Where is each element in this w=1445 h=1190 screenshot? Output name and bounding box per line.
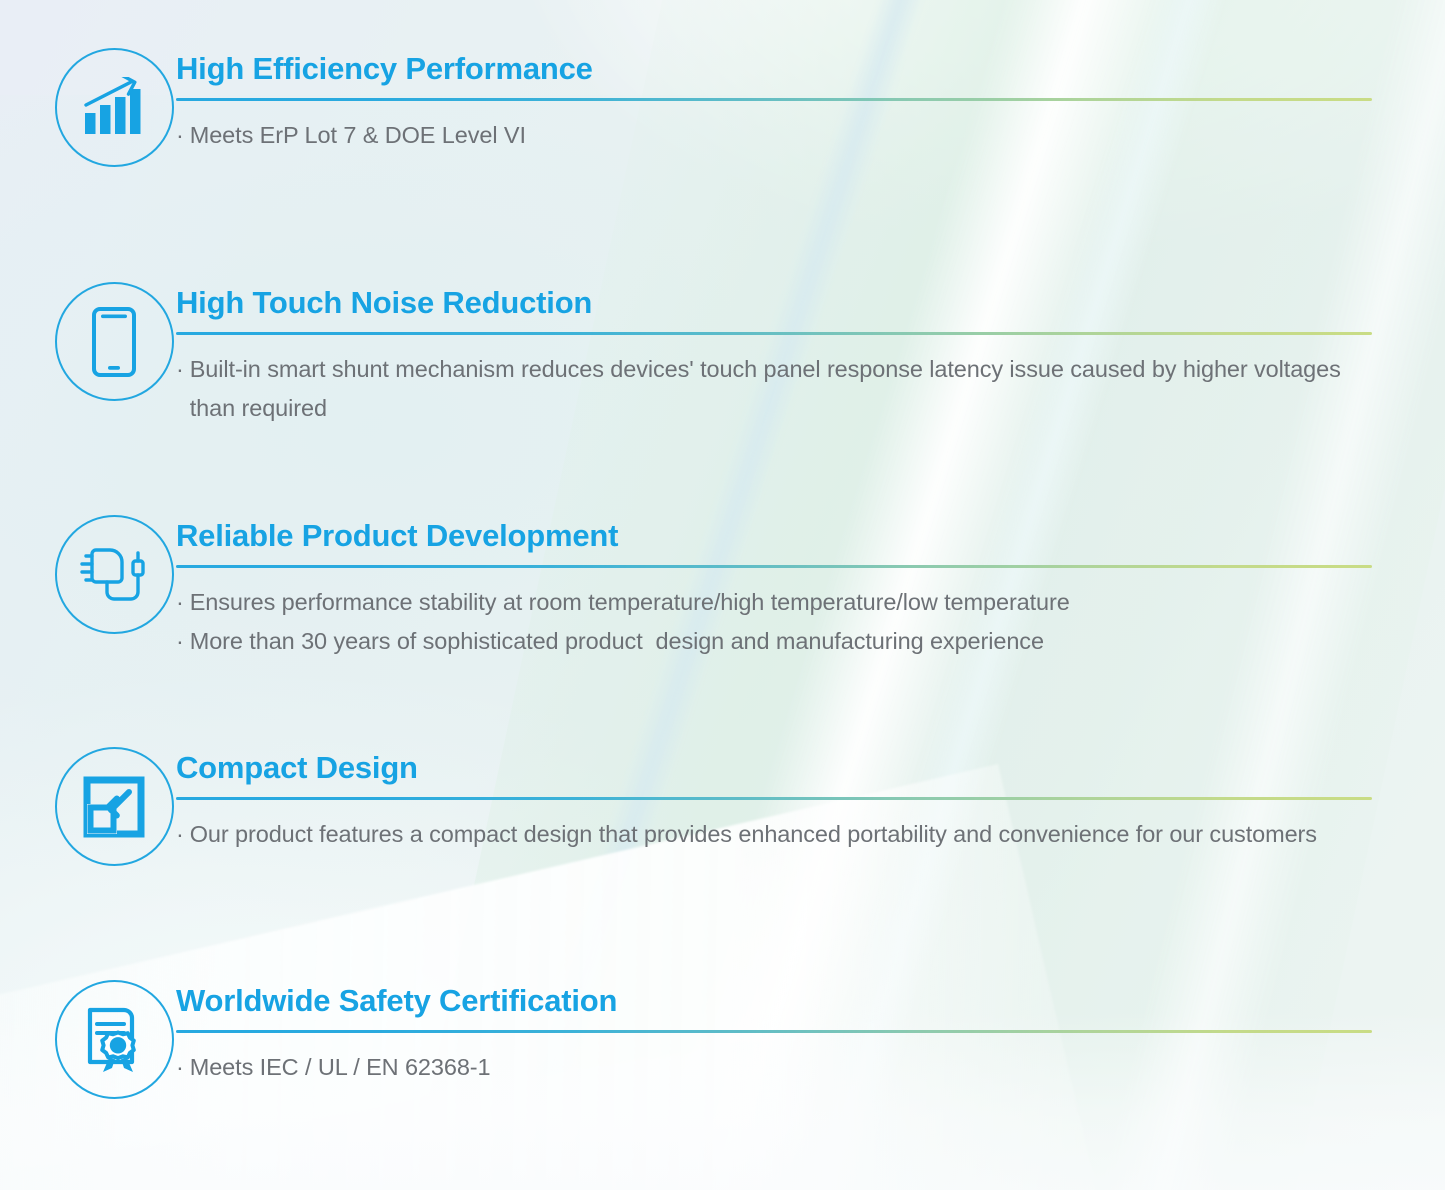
feature-icon-container [52, 978, 176, 1099]
feature-bullets: · Meets ErP Lot 7 & DOE Level VI [176, 116, 1372, 154]
bullet-item: · Ensures performance stability at room … [176, 583, 1372, 621]
compact-resize-icon [83, 776, 145, 838]
feature-item-high-touch-noise-reduction: High Touch Noise Reduction · Built-in sm… [52, 280, 1372, 427]
feature-icon-container [52, 46, 176, 167]
power-adapter-icon [76, 542, 152, 608]
smartphone-icon [92, 307, 136, 377]
bullet-text: Meets IEC / UL / EN 62368-1 [190, 1048, 1372, 1086]
bullet-item: · Our product features a compact design … [176, 815, 1372, 853]
feature-icon-container [52, 745, 176, 866]
bullet-marker-icon: · [176, 583, 184, 621]
bullet-item: · Meets ErP Lot 7 & DOE Level VI [176, 116, 1372, 154]
bullet-item: · More than 30 years of sophisticated pr… [176, 622, 1372, 660]
feature-body: High Touch Noise Reduction · Built-in sm… [176, 280, 1372, 427]
feature-icon-container [52, 513, 176, 634]
feature-title: Worldwide Safety Certification [176, 984, 1372, 1017]
icon-circle-border [55, 48, 174, 167]
certificate-seal-icon [82, 1006, 146, 1074]
feature-item-compact-design: Compact Design · Our product features a … [52, 745, 1372, 866]
bullet-marker-icon: · [176, 1048, 184, 1086]
feature-body: Reliable Product Development · Ensures p… [176, 513, 1372, 660]
feature-item-worldwide-safety-certification: Worldwide Safety Certification · Meets I… [52, 978, 1372, 1099]
feature-item-reliable-product-development: Reliable Product Development · Ensures p… [52, 513, 1372, 660]
feature-item-high-efficiency-performance: High Efficiency Performance · Meets ErP … [52, 46, 1372, 167]
feature-title: Reliable Product Development [176, 519, 1372, 552]
feature-title: High Efficiency Performance [176, 52, 1372, 85]
feature-divider [176, 1030, 1372, 1033]
bullet-item: · Built-in smart shunt mechanism reduces… [176, 350, 1372, 427]
feature-icon-container [52, 280, 176, 401]
feature-bullets: · Meets IEC / UL / EN 62368-1 [176, 1048, 1372, 1086]
icon-circle-border [55, 515, 174, 634]
bullet-marker-icon: · [176, 622, 184, 660]
bullet-marker-icon: · [176, 815, 184, 853]
feature-body: Worldwide Safety Certification · Meets I… [176, 978, 1372, 1087]
feature-bullets: · Built-in smart shunt mechanism reduces… [176, 350, 1372, 427]
feature-divider [176, 565, 1372, 568]
feature-title: High Touch Noise Reduction [176, 286, 1372, 319]
bullet-text: Built-in smart shunt mechanism reduces d… [190, 350, 1372, 427]
bullet-text: Ensures performance stability at room te… [190, 583, 1372, 621]
feature-body: High Efficiency Performance · Meets ErP … [176, 46, 1372, 155]
feature-body: Compact Design · Our product features a … [176, 745, 1372, 854]
feature-divider [176, 332, 1372, 335]
bullet-marker-icon: · [176, 350, 184, 388]
feature-divider [176, 797, 1372, 800]
icon-circle-border [55, 282, 174, 401]
bar-chart-growth-icon [81, 77, 147, 139]
bullet-text: Meets ErP Lot 7 & DOE Level VI [190, 116, 1372, 154]
feature-bullets: · Ensures performance stability at room … [176, 583, 1372, 660]
bullet-text: Our product features a compact design th… [190, 815, 1372, 853]
icon-circle-border [55, 747, 174, 866]
bullet-text: More than 30 years of sophisticated prod… [190, 622, 1372, 660]
icon-circle-border [55, 980, 174, 1099]
feature-title: Compact Design [176, 751, 1372, 784]
feature-bullets: · Our product features a compact design … [176, 815, 1372, 853]
feature-divider [176, 98, 1372, 101]
feature-list: High Efficiency Performance · Meets ErP … [0, 0, 1445, 1190]
bullet-item: · Meets IEC / UL / EN 62368-1 [176, 1048, 1372, 1086]
bullet-marker-icon: · [176, 116, 184, 154]
